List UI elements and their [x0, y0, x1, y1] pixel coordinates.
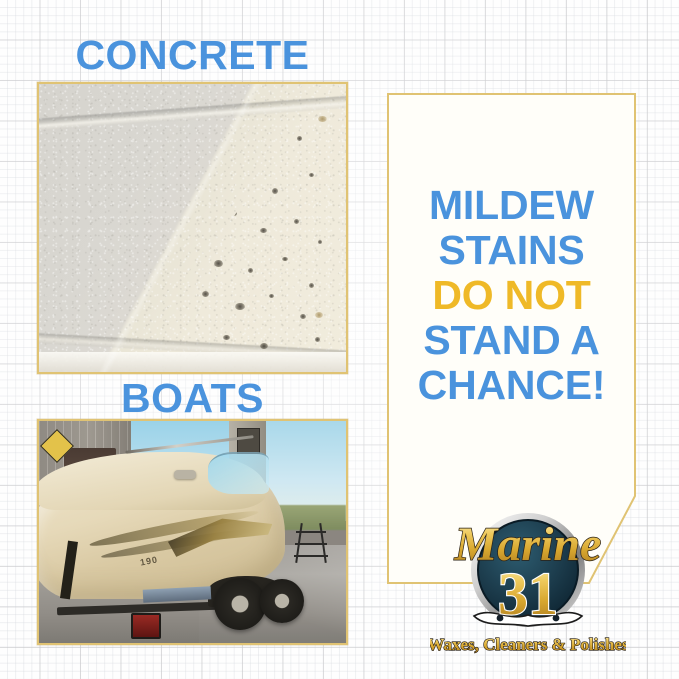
trailer-wheel-rear [214, 578, 266, 630]
boat-deck-hatch [174, 470, 196, 479]
headline-line-5: CHANCE! [387, 363, 636, 408]
photo-concrete-mildew [37, 82, 348, 374]
marine-31-logo: Marine 31 Waxes, Cleaners & Polishes [430, 498, 626, 660]
trailer-taillight [131, 613, 161, 639]
marketing-graphic-canvas: CONCRETE [0, 0, 679, 679]
trailer-step-pad [143, 586, 211, 603]
section-label-boats: BOATS [37, 378, 348, 419]
concrete-photo-inner [39, 84, 346, 372]
logo-number-31: 31 [498, 561, 558, 627]
boat-windshield [208, 452, 269, 494]
step-ladder [294, 523, 328, 563]
headline-line-4: STAND A [387, 318, 636, 363]
section-label-concrete: CONCRETE [37, 35, 348, 76]
trailer-wheel-front [260, 579, 304, 623]
headline-text-block: MILDEW STAINS DO NOT STAND A CHANCE! [387, 183, 636, 408]
logo-tagline: Waxes, Cleaners & Polishes [430, 635, 626, 654]
boat-photo-inner: 190 [39, 421, 346, 643]
headline-line-3-emphasis: DO NOT [387, 273, 636, 318]
wall-panel-box [237, 428, 260, 454]
headline-line-2: STAINS [387, 228, 636, 273]
headline-line-1: MILDEW [387, 183, 636, 228]
photo-boat-on-trailer: 190 [37, 419, 348, 645]
